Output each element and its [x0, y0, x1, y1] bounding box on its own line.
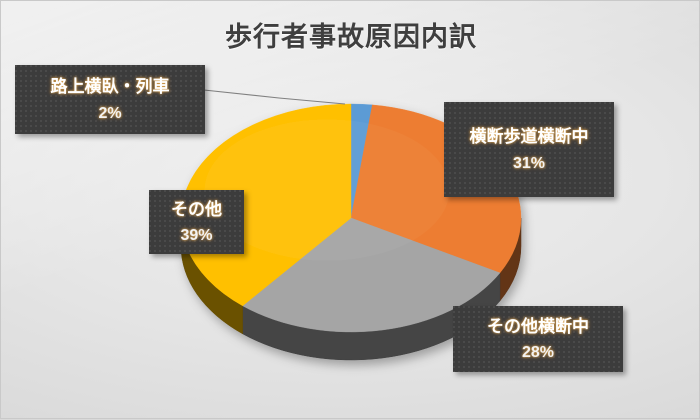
data-label-percent: 2%	[98, 105, 121, 123]
data-label-name: その他横断中	[487, 316, 589, 337]
data-label-crosswalk[interactable]: 横断歩道横断中 31%	[444, 102, 614, 197]
data-label-name: 横断歩道横断中	[470, 126, 589, 147]
data-label-name: 路上横臥・列車	[51, 76, 170, 97]
chart-title: 歩行者事故原因内訳	[1, 15, 700, 54]
data-label-percent: 31%	[513, 155, 545, 173]
data-label-percent: 39%	[180, 227, 212, 245]
pie-chart-frame: 歩行者事故原因内訳 路上横臥・列車 2% 横断歩道横断中 31% その他横断中 …	[0, 0, 700, 419]
data-label-percent: 28%	[522, 344, 554, 362]
data-label-name: その他	[171, 199, 222, 220]
data-label-other-crossing[interactable]: その他横断中 28%	[453, 306, 623, 372]
data-label-other[interactable]: その他 39%	[149, 190, 244, 254]
data-label-road-lying-train[interactable]: 路上横臥・列車 2%	[15, 65, 205, 134]
